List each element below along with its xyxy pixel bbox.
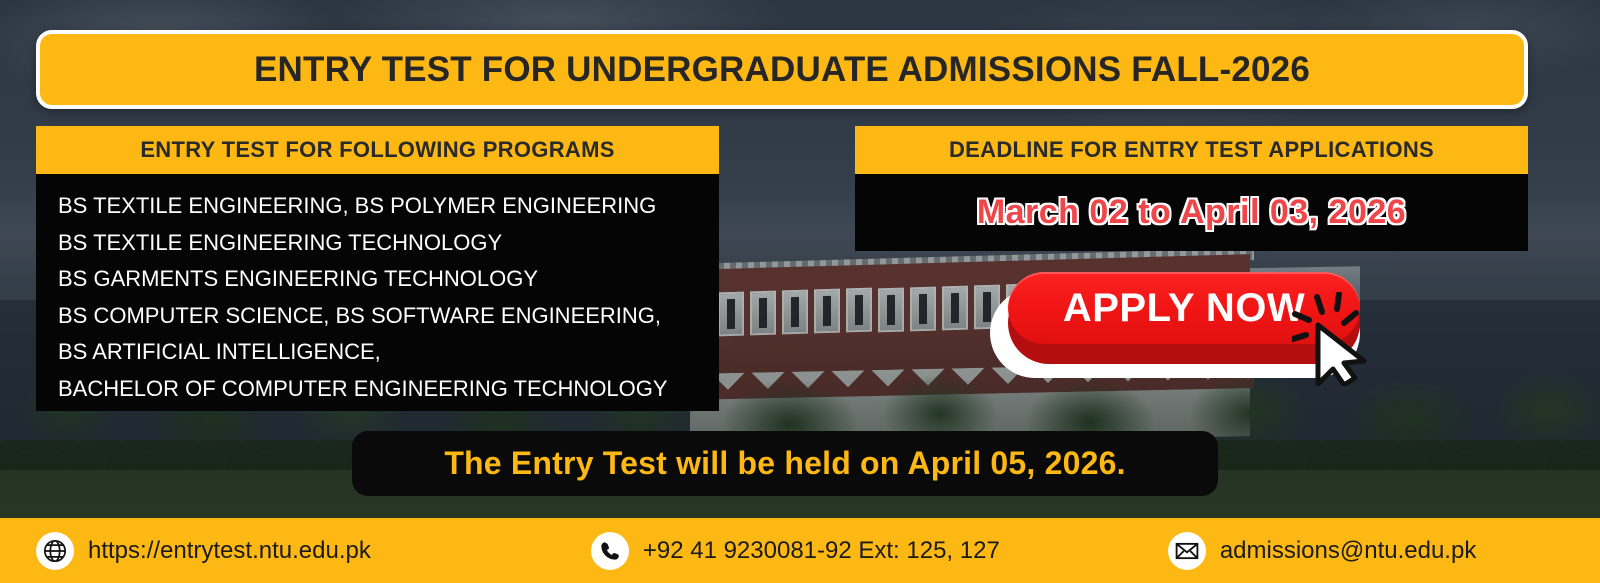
page-title: ENTRY TEST FOR UNDERGRADUATE ADMISSIONS … xyxy=(254,50,1310,90)
test-date-bar: The Entry Test will be held on April 05,… xyxy=(352,431,1218,496)
envelope-icon xyxy=(1168,532,1206,570)
phone-number: +92 41 9230081-92 Ext: 125, 127 xyxy=(643,537,1000,565)
email-address: admissions@ntu.edu.pk xyxy=(1220,537,1477,565)
programs-panel-header: ENTRY TEST FOR FOLLOWING PROGRAMS xyxy=(36,126,719,174)
website-url: https://entrytest.ntu.edu.pk xyxy=(88,537,371,565)
apply-now-label: APPLY NOW xyxy=(1063,286,1305,331)
program-item: BS GARMENTS ENGINEERING TECHNOLOGY xyxy=(58,261,719,298)
program-item: BS TEXTILE ENGINEERING, BS POLYMER ENGIN… xyxy=(58,188,719,225)
program-item: BS COMPUTER SCIENCE, BS SOFTWARE ENGINEE… xyxy=(58,298,719,335)
globe-icon xyxy=(36,532,74,570)
phone-icon xyxy=(591,532,629,570)
deadline-date-range: March 02 to April 03, 2026 xyxy=(977,193,1406,232)
apply-now-button[interactable]: APPLY NOW xyxy=(1008,272,1360,344)
test-date-text: The Entry Test will be held on April 05,… xyxy=(444,445,1125,482)
contact-email[interactable]: admissions@ntu.edu.pk xyxy=(1168,532,1477,570)
programs-panel-body: BS TEXTILE ENGINEERING, BS POLYMER ENGIN… xyxy=(36,174,719,411)
deadline-panel-body: March 02 to April 03, 2026 xyxy=(855,174,1528,251)
deadline-panel-header: DEADLINE FOR ENTRY TEST APPLICATIONS xyxy=(855,126,1528,174)
apply-now-area: APPLY NOW xyxy=(990,266,1390,386)
banner-title-bar: ENTRY TEST FOR UNDERGRADUATE ADMISSIONS … xyxy=(36,30,1528,109)
contact-phone[interactable]: +92 41 9230081-92 Ext: 125, 127 xyxy=(591,532,1000,570)
contact-website[interactable]: https://entrytest.ntu.edu.pk xyxy=(36,532,371,570)
programs-panel: ENTRY TEST FOR FOLLOWING PROGRAMS BS TEX… xyxy=(36,126,719,411)
program-item: BACHELOR OF COMPUTER ENGINEERING TECHNOL… xyxy=(58,371,719,408)
programs-header-label: ENTRY TEST FOR FOLLOWING PROGRAMS xyxy=(140,137,614,163)
deadline-header-label: DEADLINE FOR ENTRY TEST APPLICATIONS xyxy=(949,137,1434,163)
contact-footer: https://entrytest.ntu.edu.pk +92 41 9230… xyxy=(0,518,1600,583)
admission-banner: ENTRY TEST FOR UNDERGRADUATE ADMISSIONS … xyxy=(0,0,1600,583)
program-item: BS ARTIFICIAL INTELLIGENCE, xyxy=(58,334,719,371)
deadline-panel: DEADLINE FOR ENTRY TEST APPLICATIONS Mar… xyxy=(855,126,1528,251)
program-item: BS TEXTILE ENGINEERING TECHNOLOGY xyxy=(58,225,719,262)
